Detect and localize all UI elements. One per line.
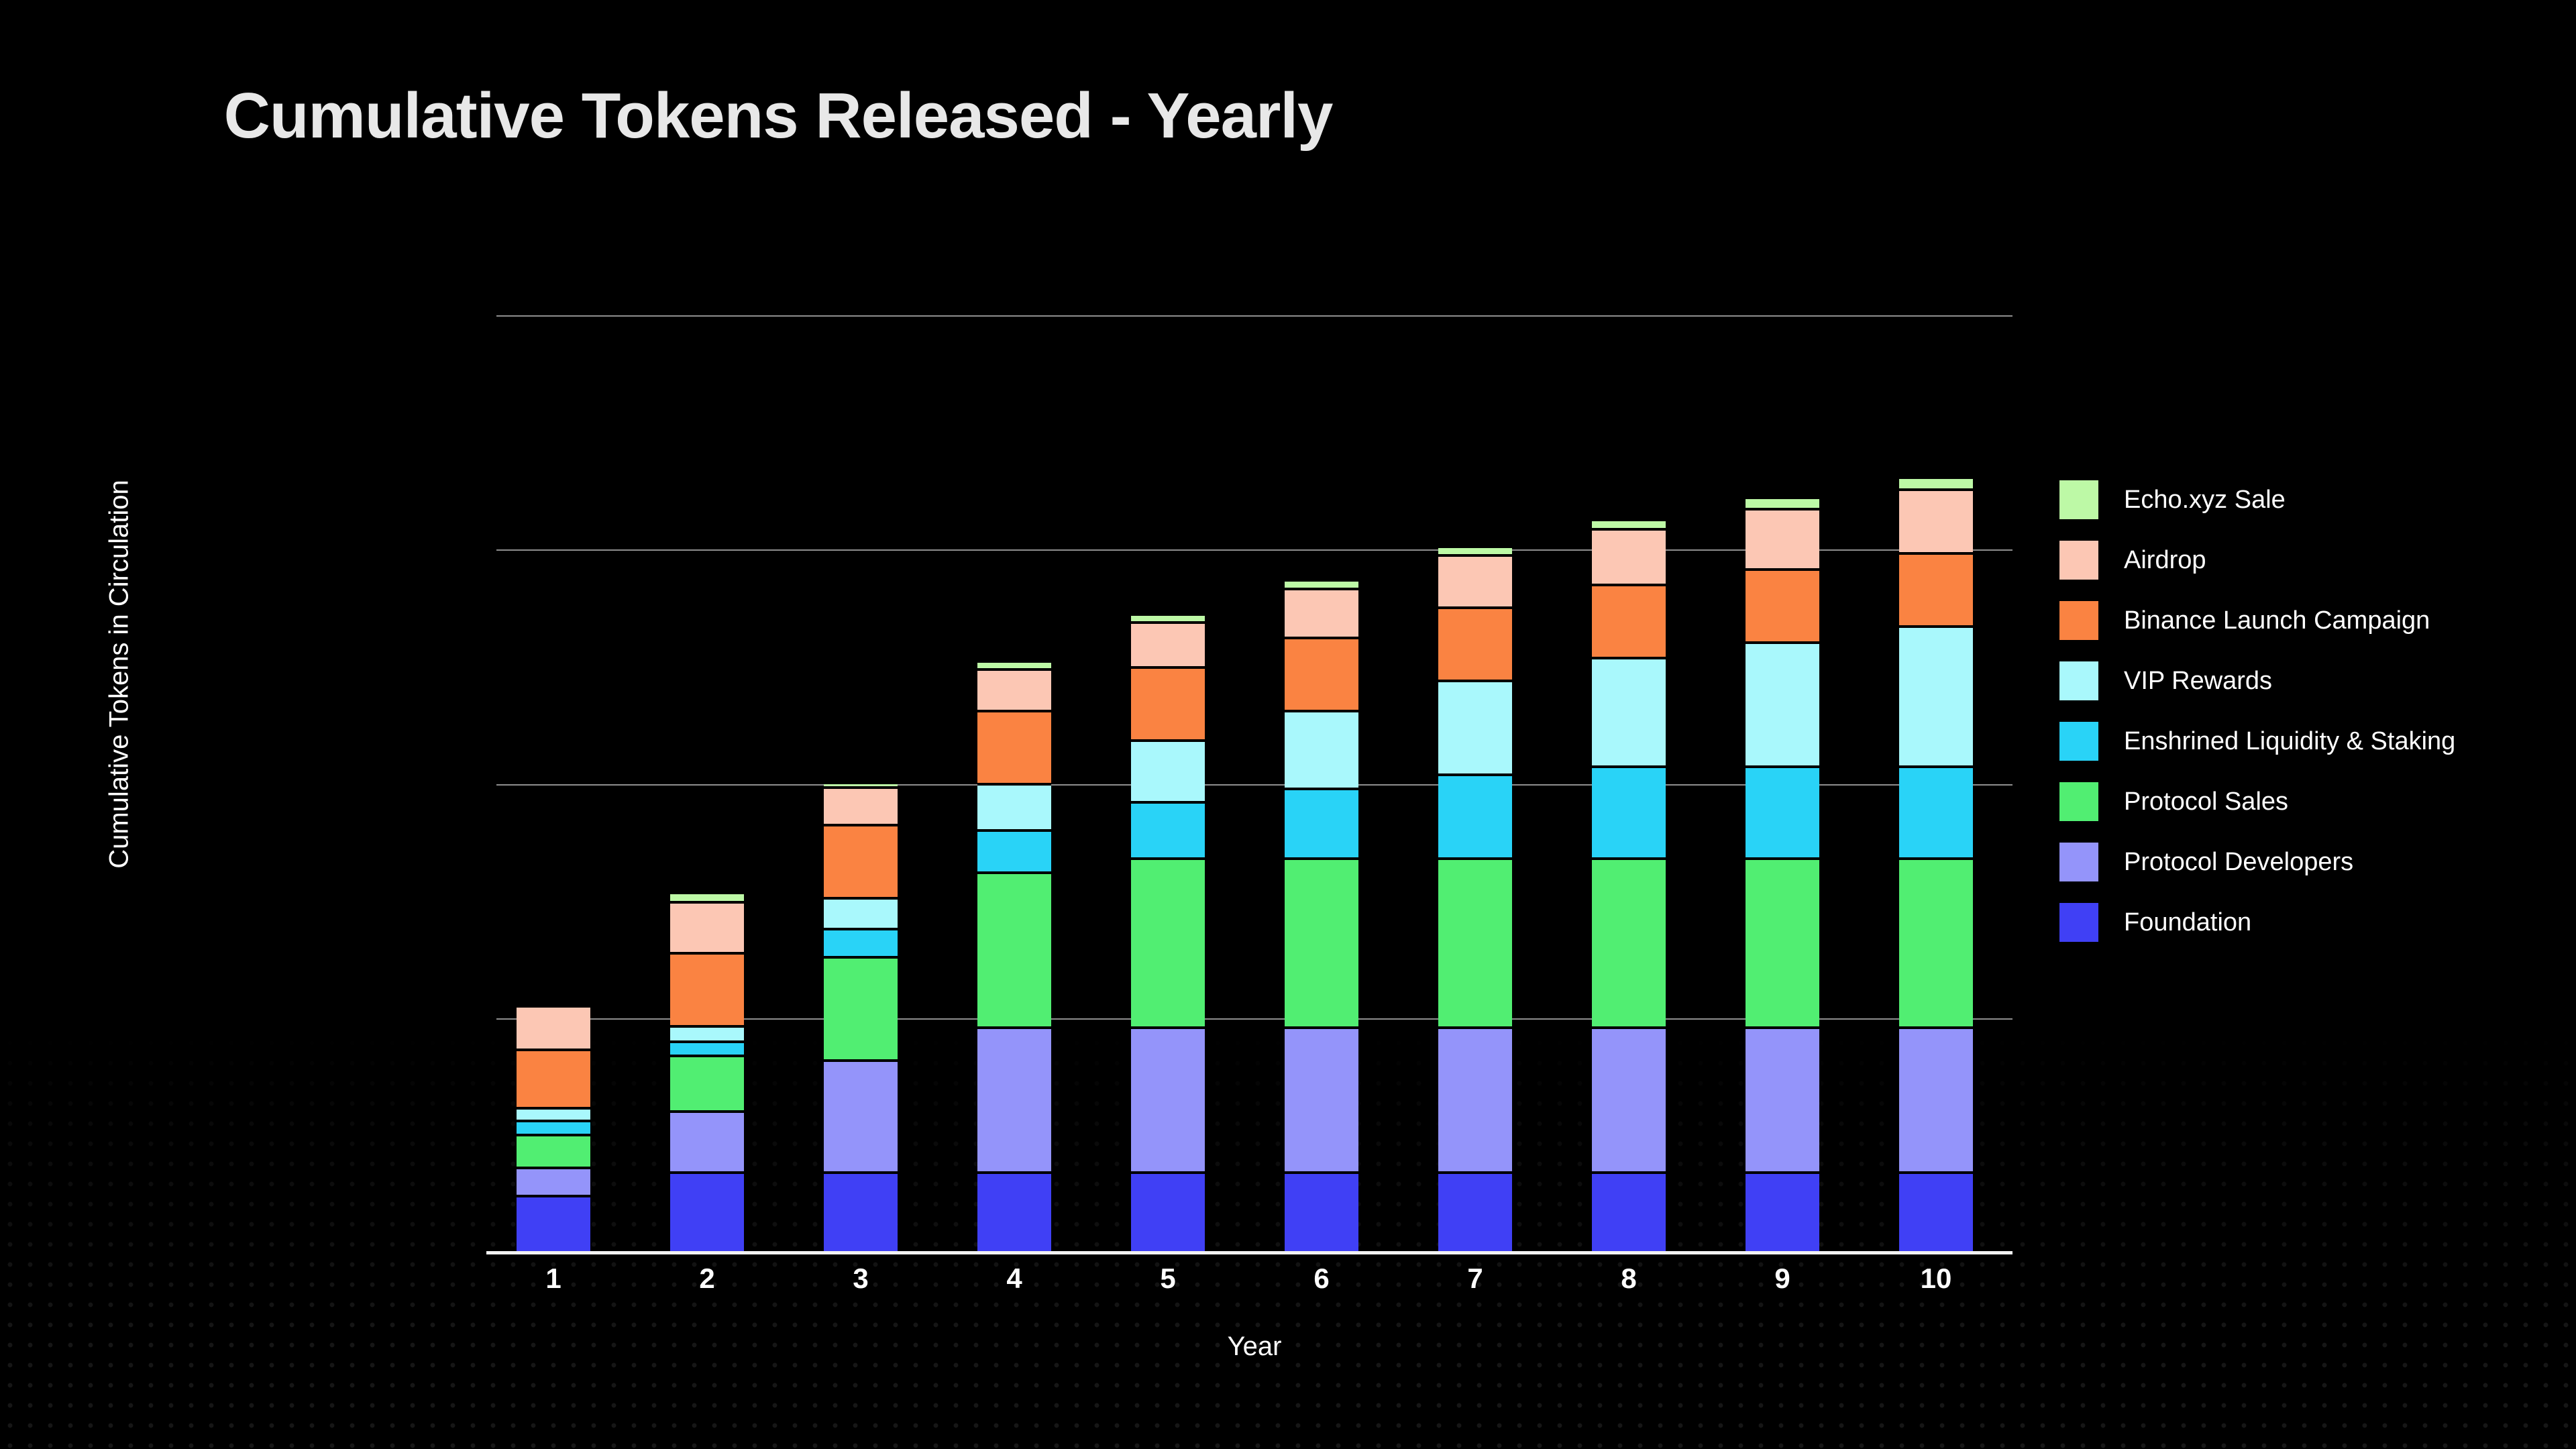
bar-segment[interactable] (1285, 711, 1358, 789)
legend-item-label: Protocol Developers (2124, 848, 2353, 877)
bar-segment[interactable] (1746, 643, 1819, 767)
legend-item-label: Binance Launch Campaign (2124, 606, 2430, 635)
bar-segment[interactable] (670, 1042, 744, 1056)
bar-segment[interactable] (824, 825, 898, 898)
x-axis-tick-label: 10 (1886, 1263, 1986, 1295)
bar-segment[interactable] (670, 1026, 744, 1041)
x-axis-tick-label: 1 (503, 1263, 604, 1295)
bar-segment[interactable] (1438, 681, 1512, 775)
x-axis-tick-label: 2 (657, 1263, 757, 1295)
bar-segment[interactable] (1131, 859, 1205, 1027)
bar-segment[interactable] (1746, 570, 1819, 643)
bar-segment[interactable] (670, 1112, 744, 1173)
bar-segment[interactable] (1746, 1173, 1819, 1252)
bar-segment[interactable] (1746, 767, 1819, 859)
bar-segment[interactable] (1899, 767, 1973, 859)
bar-segment[interactable] (517, 1050, 590, 1108)
x-axis-tick-label: 4 (964, 1263, 1065, 1295)
legend-swatch-icon (2059, 903, 2098, 942)
bar-segment[interactable] (1438, 1028, 1512, 1173)
bar-segment[interactable] (977, 784, 1051, 831)
bar-segment[interactable] (517, 1108, 590, 1122)
bar-segment[interactable] (1285, 1028, 1358, 1173)
bar-segment[interactable] (824, 788, 898, 825)
legend-item-label: Airdrop (2124, 546, 2206, 575)
bar-segment[interactable] (670, 953, 744, 1026)
bar-segment[interactable] (1746, 498, 1819, 509)
x-axis-tick-label: 8 (1578, 1263, 1679, 1295)
bar-segment[interactable] (824, 1061, 898, 1173)
bar-segment[interactable] (517, 1135, 590, 1168)
bar-segment[interactable] (1438, 555, 1512, 608)
chart-root: Cumulative Tokens Released - Yearly Cumu… (0, 0, 2576, 1449)
bar-segment[interactable] (1592, 859, 1666, 1027)
legend-swatch-icon (2059, 541, 2098, 580)
bar-segment[interactable] (1131, 1173, 1205, 1252)
bar-segment[interactable] (824, 783, 898, 788)
bar-segment[interactable] (517, 1006, 590, 1051)
legend-item[interactable]: Protocol Sales (2059, 771, 2455, 832)
bar-segment[interactable] (1899, 553, 1973, 627)
legend-swatch-icon (2059, 480, 2098, 519)
bar-segment[interactable] (1131, 802, 1205, 859)
bar-segment[interactable] (1899, 478, 1973, 490)
bar-segment[interactable] (1285, 1173, 1358, 1252)
gridline (496, 315, 2012, 317)
x-axis-baseline (486, 1251, 2012, 1254)
bar-segment[interactable] (1131, 741, 1205, 802)
x-axis-tick-label: 3 (810, 1263, 911, 1295)
x-axis-title: Year (496, 1332, 2012, 1362)
bar-segment[interactable] (1131, 614, 1205, 623)
legend-item[interactable]: VIP Rewards (2059, 651, 2455, 711)
y-axis-title: Cumulative Tokens in Circulation (105, 480, 135, 869)
bar-segment[interactable] (517, 1196, 590, 1252)
bar-segment[interactable] (977, 873, 1051, 1028)
legend-swatch-icon (2059, 782, 2098, 821)
bar-segment[interactable] (1899, 1028, 1973, 1173)
bar-segment[interactable] (1592, 767, 1666, 859)
bar-segment[interactable] (1285, 859, 1358, 1027)
bar-segment[interactable] (1131, 667, 1205, 741)
bar-segment[interactable] (1899, 627, 1973, 767)
bar-segment[interactable] (977, 669, 1051, 710)
bar-segment[interactable] (1131, 1028, 1205, 1173)
bar-segment[interactable] (977, 1173, 1051, 1252)
legend-item-label: Enshrined Liquidity & Staking (2124, 727, 2455, 756)
bar-segment[interactable] (670, 1173, 744, 1252)
chart-legend: Echo.xyz SaleAirdropBinance Launch Campa… (2059, 470, 2455, 953)
bar-segment[interactable] (1438, 1173, 1512, 1252)
bar-segment[interactable] (824, 898, 898, 929)
x-axis-tick-label: 5 (1118, 1263, 1218, 1295)
bar-segment[interactable] (1285, 580, 1358, 589)
bar-segment[interactable] (1285, 589, 1358, 638)
bar-segment[interactable] (1592, 520, 1666, 529)
x-axis-tick-label: 9 (1732, 1263, 1833, 1295)
bar-segment[interactable] (1285, 789, 1358, 859)
x-axis-tick-label: 6 (1271, 1263, 1372, 1295)
bar-segment[interactable] (824, 929, 898, 957)
bar-segment[interactable] (670, 902, 744, 954)
legend-item-label: VIP Rewards (2124, 667, 2272, 696)
bar-segment[interactable] (1592, 658, 1666, 767)
bar-segment[interactable] (1438, 859, 1512, 1027)
bar-segment[interactable] (1438, 608, 1512, 681)
legend-item[interactable]: Foundation (2059, 892, 2455, 953)
chart-title-text: Cumulative Tokens Released - Yearly (224, 79, 1333, 153)
bar-segment[interactable] (977, 830, 1051, 873)
bar-segment[interactable] (977, 661, 1051, 670)
bar-segment[interactable] (1592, 1173, 1666, 1252)
page-title: Cumulative Tokens Released - Yearly (0, 79, 2576, 153)
legend-item[interactable]: Protocol Developers (2059, 832, 2455, 892)
bar-segment[interactable] (824, 957, 898, 1061)
bar-segment[interactable] (1438, 775, 1512, 859)
legend-item-label: Protocol Sales (2124, 788, 2288, 816)
bar-segment[interactable] (517, 1168, 590, 1196)
legend-item[interactable]: Enshrined Liquidity & Staking (2059, 711, 2455, 771)
bar-segment[interactable] (1438, 547, 1512, 555)
bar-segment[interactable] (670, 1056, 744, 1112)
bar-segment[interactable] (977, 711, 1051, 784)
bar-segment[interactable] (1746, 509, 1819, 569)
bar-segment[interactable] (824, 1173, 898, 1252)
bar-segment[interactable] (1592, 529, 1666, 586)
bar-segment[interactable] (1592, 1028, 1666, 1173)
legend-item-label: Echo.xyz Sale (2124, 486, 2286, 515)
legend-swatch-icon (2059, 601, 2098, 640)
legend-item-label: Foundation (2124, 908, 2251, 937)
legend-swatch-icon (2059, 843, 2098, 881)
legend-swatch-icon (2059, 722, 2098, 761)
legend-item[interactable]: Echo.xyz Sale (2059, 470, 2455, 530)
bar-segment[interactable] (1746, 1028, 1819, 1173)
bar-segment[interactable] (1592, 585, 1666, 658)
bar-segment[interactable] (670, 893, 744, 902)
legend-swatch-icon (2059, 661, 2098, 700)
bar-segment[interactable] (1131, 623, 1205, 667)
bar-segment[interactable] (1899, 490, 1973, 553)
bar-segment[interactable] (517, 1121, 590, 1135)
bar-segment[interactable] (977, 1028, 1051, 1173)
plot-area: 0250,000,000500,000,000750,000,0001,000,… (496, 315, 2012, 1252)
x-axis-tick-label: 7 (1425, 1263, 1525, 1295)
bar-segment[interactable] (1746, 859, 1819, 1027)
legend-item[interactable]: Binance Launch Campaign (2059, 590, 2455, 651)
bar-segment[interactable] (1285, 638, 1358, 711)
bar-segment[interactable] (1899, 859, 1973, 1027)
bar-segment[interactable] (1899, 1173, 1973, 1252)
legend-item[interactable]: Airdrop (2059, 530, 2455, 590)
